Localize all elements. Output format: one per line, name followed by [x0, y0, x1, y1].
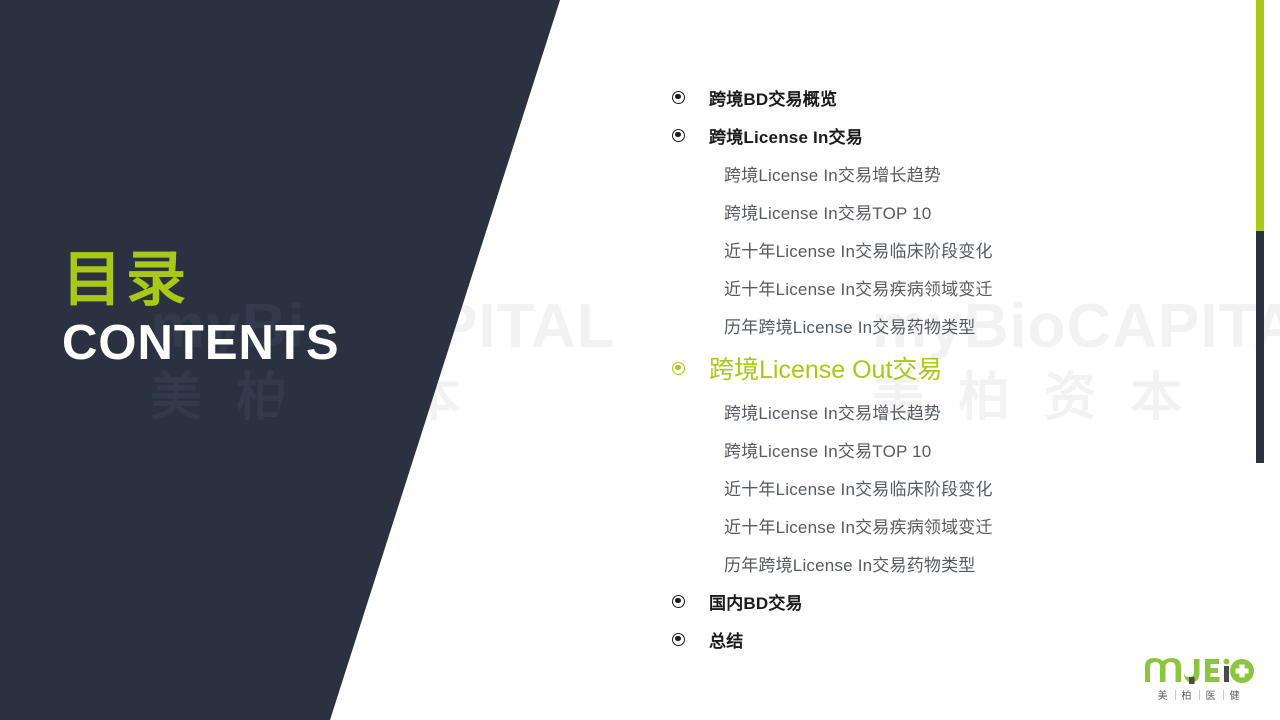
toc-sub-label: 跨境License In交易TOP 10 — [724, 437, 931, 462]
brand-cn-char: 柏 — [1182, 687, 1193, 702]
toc-sub-item[interactable]: 近十年License In交易临床阶段变化 — [672, 468, 1232, 506]
table-of-contents: 跨境BD交易概览跨境License In交易跨境License In交易增长趋势… — [672, 78, 1232, 658]
page-title-cn: 目录 — [62, 248, 340, 311]
brand-cn-separator — [1199, 690, 1200, 700]
toc-sub-item[interactable]: 近十年License In交易疾病领域变迁 — [672, 268, 1232, 306]
toc-section-item[interactable]: 跨境License In交易 — [672, 116, 1232, 154]
toc-sub-item[interactable]: 近十年License In交易疾病领域变迁 — [672, 506, 1232, 544]
toc-sub-item[interactable]: 跨境License In交易增长趋势 — [672, 154, 1232, 192]
page-title: 目录 CONTENTS — [62, 248, 340, 371]
toc-section-item[interactable]: 跨境BD交易概览 — [672, 78, 1232, 116]
edge-bar-dark — [1256, 231, 1264, 463]
toc-sub-item[interactable]: 近十年License In交易临床阶段变化 — [672, 230, 1232, 268]
toc-sub-label: 跨境License In交易增长趋势 — [724, 161, 941, 186]
toc-sub-item[interactable]: 历年跨境License In交易药物类型 — [672, 544, 1232, 582]
bullet-target-icon — [672, 91, 685, 104]
bullet-target-icon — [672, 129, 685, 142]
toc-section-label: 跨境License In交易 — [709, 123, 863, 148]
brand-logo-cn: 美 柏 医 健 — [1143, 687, 1255, 702]
toc-section-label: 国内BD交易 — [709, 589, 803, 614]
toc-section-label: 跨境BD交易概览 — [709, 85, 837, 110]
toc-sub-item[interactable]: 跨境License In交易增长趋势 — [672, 392, 1232, 430]
toc-section-label: 跨境License Out交易 — [709, 350, 942, 386]
brand-logo: 美 柏 医 健 — [1143, 658, 1255, 702]
toc-sub-label: 近十年License In交易疾病领域变迁 — [724, 513, 993, 538]
toc-section-item[interactable]: 国内BD交易 — [672, 582, 1232, 620]
toc-sub-label: 近十年License In交易临床阶段变化 — [724, 475, 993, 500]
page-title-en: CONTENTS — [62, 317, 340, 371]
brand-cn-char: 健 — [1230, 687, 1241, 702]
brand-logo-wordmark — [1143, 658, 1255, 684]
brand-cn-char: 医 — [1206, 687, 1217, 702]
toc-section-item[interactable]: 总结 — [672, 620, 1232, 658]
brand-cn-char: 美 — [1158, 687, 1169, 702]
toc-sub-label: 跨境License In交易TOP 10 — [724, 199, 931, 224]
toc-section-item[interactable]: 跨境License Out交易 — [672, 344, 1232, 392]
edge-bar-green — [1256, 0, 1264, 231]
toc-sub-label: 历年跨境License In交易药物类型 — [724, 313, 976, 338]
brand-cn-separator — [1175, 690, 1176, 700]
toc-sub-label: 跨境License In交易增长趋势 — [724, 399, 941, 424]
toc-sub-label: 近十年License In交易临床阶段变化 — [724, 237, 993, 262]
bullet-target-icon — [672, 633, 685, 646]
toc-section-label: 总结 — [709, 627, 743, 652]
toc-sub-label: 近十年License In交易疾病领域变迁 — [724, 275, 993, 300]
bullet-target-icon — [672, 595, 685, 608]
toc-sub-label: 历年跨境License In交易药物类型 — [724, 551, 976, 576]
brand-cn-separator — [1223, 690, 1224, 700]
toc-sub-item[interactable]: 跨境License In交易TOP 10 — [672, 430, 1232, 468]
toc-sub-item[interactable]: 历年跨境License In交易药物类型 — [672, 306, 1232, 344]
toc-sub-item[interactable]: 跨境License In交易TOP 10 — [672, 192, 1232, 230]
slide-contents: myBioCAPITAL 美柏资本 myBioCAPITAL 美柏资本 myBi… — [0, 0, 1280, 720]
mybio-logo-icon — [1143, 658, 1255, 684]
bullet-target-icon — [672, 362, 685, 375]
